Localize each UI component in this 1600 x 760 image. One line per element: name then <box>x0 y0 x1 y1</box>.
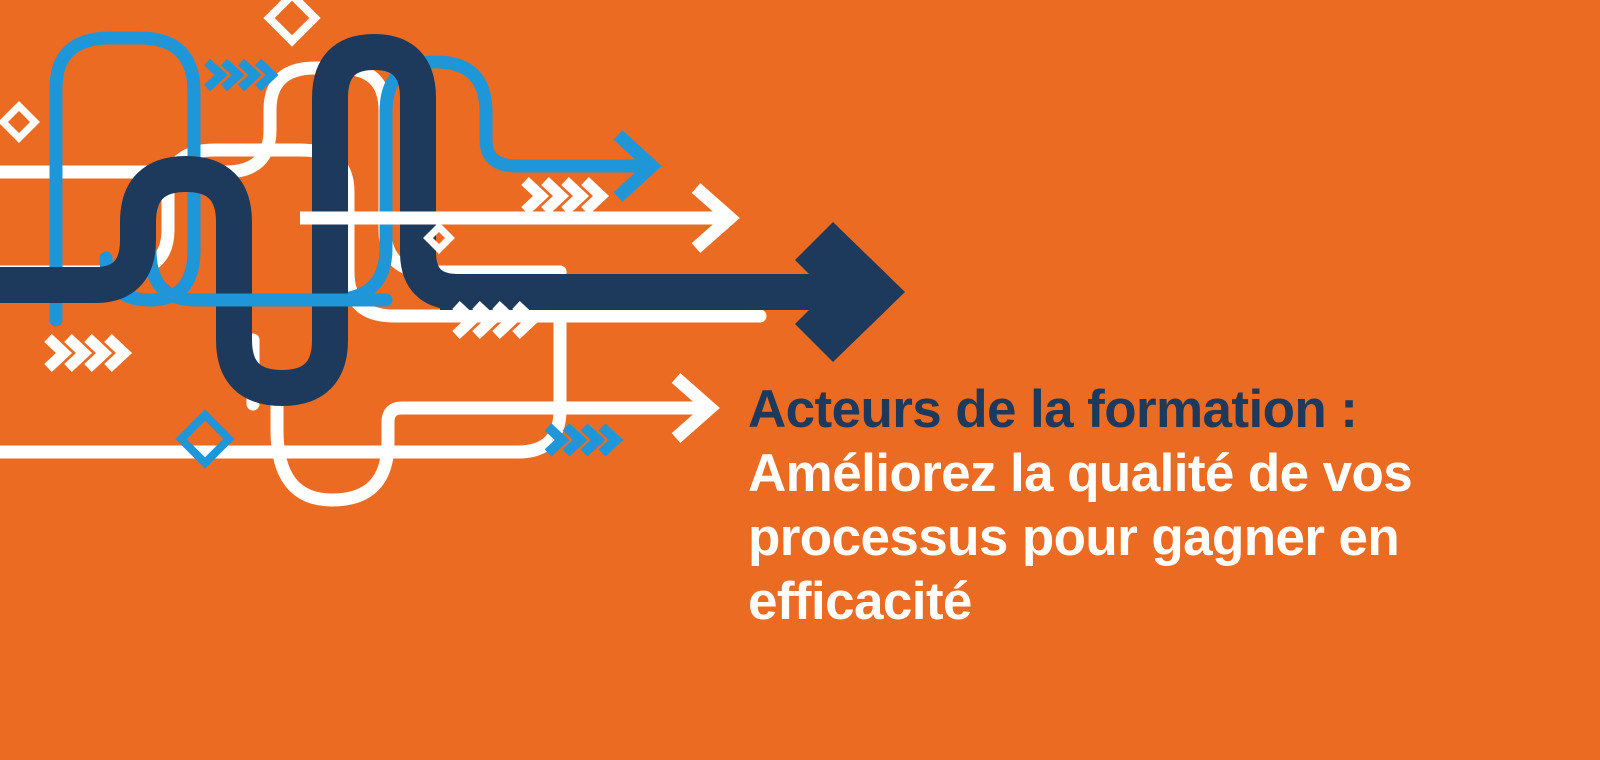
diamond-shape <box>428 227 450 249</box>
diamond-shape <box>269 0 315 41</box>
headline-title: Acteurs de la formation : <box>748 378 1508 442</box>
diamond-white-top <box>269 0 315 41</box>
diamond-white-small <box>428 227 450 249</box>
headline-subtitle-line-1: Améliorez la qualité de vos <box>748 442 1508 506</box>
chevrons-blue-top <box>207 62 272 88</box>
chevron <box>525 181 541 211</box>
chevrons-white-upper <box>525 181 601 211</box>
headline-subtitle-line-2: processus pour gagner en <box>748 506 1508 570</box>
chevrons-blue-lower <box>548 427 616 453</box>
headline-block: Acteurs de la formation : Améliorez la q… <box>748 378 1508 634</box>
chevrons-white-left <box>48 338 124 368</box>
white-arrow-upper-group <box>300 188 730 248</box>
chevron <box>207 62 221 88</box>
chevron <box>48 338 64 368</box>
hero-banner: Acteurs de la formation : Améliorez la q… <box>0 0 1600 760</box>
headline-subtitle-line-3: efficacité <box>748 570 1508 634</box>
